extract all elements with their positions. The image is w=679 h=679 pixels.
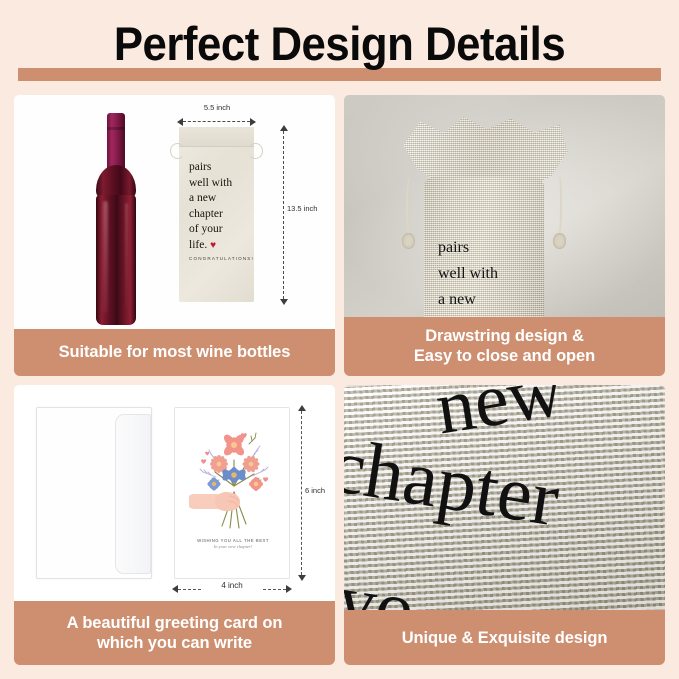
feature-card-greeting-card: WISHING YOU ALL THE BEST In your new cha…	[14, 385, 335, 666]
dimension-line	[301, 411, 302, 575]
wine-bag-illustration: pairs well with a new chapter of your li…	[179, 127, 254, 302]
bag-drawstring-right-icon	[248, 143, 263, 159]
bag-text-lines: pairs well with a new chapter of your li…	[189, 161, 232, 251]
bottle-highlight-right	[125, 203, 128, 308]
card-height-dimension-label: 6 inch	[304, 485, 326, 496]
drawstring-knot-left	[402, 233, 415, 249]
height-dimension-label: 13.5 inch	[286, 203, 318, 214]
dimension-line	[183, 121, 250, 122]
feature-caption-greeting-card: A beautiful greeting card on which you c…	[14, 601, 335, 665]
envelope	[36, 407, 152, 579]
arrow-head-bottom-icon	[280, 299, 288, 305]
feature-card-drawstring: pairs well with a new Drawstring design …	[344, 95, 665, 376]
feature-caption-macro-weave: Unique & Exquisite design	[344, 610, 665, 665]
height-dimension-arrow	[279, 125, 288, 305]
envelope-flap	[115, 414, 151, 574]
arrow-head-bottom-icon	[298, 575, 306, 581]
card-width-dimension-label: 4 inch	[202, 581, 262, 590]
bag-top-band	[179, 127, 254, 147]
arrow-head-right-icon	[250, 118, 256, 126]
feature-grid: pairs well with a new chapter of your li…	[14, 95, 665, 665]
dimension-line	[283, 131, 284, 299]
card-message: WISHING YOU ALL THE BEST In your new cha…	[183, 538, 283, 550]
flower-coral-lower-right	[248, 475, 264, 491]
flower-blue-left	[206, 476, 221, 491]
greeting-card-illustration: WISHING YOU ALL THE BEST In your new cha…	[14, 385, 335, 602]
greeting-card: WISHING YOU ALL THE BEST In your new cha…	[174, 407, 290, 579]
card-message-line1: WISHING YOU ALL THE BEST	[183, 538, 283, 543]
bag-congratulations-text: CONGRATULATIONS!	[189, 256, 253, 261]
feature-caption-wine-bottle: Suitable for most wine bottles	[14, 329, 335, 376]
drawstring-knot-right	[553, 233, 566, 249]
linen-bag: pairs well with a new	[400, 117, 568, 317]
heart-icon: ♥	[210, 240, 216, 251]
width-dimension-label: 5.5 inch	[189, 103, 245, 112]
drawstring-cord-right	[554, 175, 562, 237]
fabric-macro-photo: new chapter yo	[344, 385, 665, 611]
feature-caption-drawstring: Drawstring design & Easy to close and op…	[344, 317, 665, 376]
page-header: Perfect Design Details	[0, 0, 679, 92]
feature-card-macro-weave: new chapter yo Unique & Exquisite design	[344, 385, 665, 666]
wine-bottle-icon	[92, 113, 140, 325]
bag-drawstring-left-icon	[170, 143, 185, 159]
macro-word-yo: yo	[344, 561, 419, 610]
hand-holding-bouquet	[189, 492, 240, 511]
bag-printed-text: pairs well with a new	[438, 235, 544, 313]
drawstring-bag-photo: pairs well with a new	[344, 95, 665, 317]
feature-card-wine-bottle: pairs well with a new chapter of your li…	[14, 95, 335, 376]
card-message-line2: In your new chapter!	[183, 544, 283, 549]
flower-coral-top	[222, 432, 246, 457]
bag-printed-text: pairs well with a new chapter of your li…	[189, 160, 251, 253]
bottle-body	[96, 195, 136, 325]
bottle-cap-ring	[107, 127, 125, 130]
flower-bouquet-icon	[189, 420, 279, 532]
bottle-highlight-left	[103, 201, 108, 313]
page-title: Perfect Design Details	[24, 18, 655, 70]
width-dimension-arrow	[177, 117, 256, 126]
arrow-head-right-icon	[286, 585, 292, 593]
wine-bottle-and-bag-illustration: pairs well with a new chapter of your li…	[14, 95, 335, 329]
drawstring-cord-left	[406, 175, 414, 237]
